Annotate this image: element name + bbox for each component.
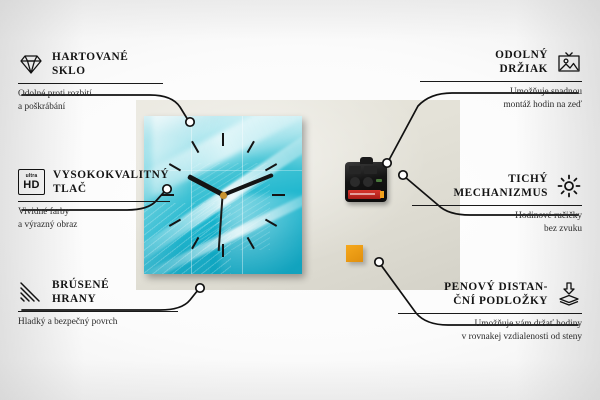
feature-title-line2: MECHANIZMUS xyxy=(453,186,548,200)
infographic-canvas: HARTOVANÉ SKLO Odolné proti rozbití a po… xyxy=(0,0,600,400)
connector-node xyxy=(375,258,383,266)
feature-title-line1: VYSOKOKVALITNÝ xyxy=(53,168,169,182)
foam-spacer-icon xyxy=(556,281,582,307)
feature-high-quality-print[interactable]: ultra HD VYSOKOKVALITNÝ TLAČ Vividné far… xyxy=(18,168,188,233)
feature-desc-line2: v rovnakej vzdialenosti od steny xyxy=(398,331,582,344)
divider xyxy=(420,81,582,82)
feature-durable-hanger[interactable]: ODOLNÝ DRŽIAK Umožňuje snadnou montáž ho… xyxy=(420,48,582,113)
feature-title-line1: ODOLNÝ xyxy=(495,48,548,62)
feature-silent-mechanism[interactable]: TICHÝ MECHANIZMUS Hodinové ručičky bez z… xyxy=(412,172,582,237)
ultra-hd-icon-main: HD xyxy=(23,180,40,191)
feature-title-line2: TLAČ xyxy=(53,182,169,196)
divider xyxy=(18,311,178,312)
feature-title-line2: DRŽIAK xyxy=(495,62,548,76)
picture-frame-hanger-icon xyxy=(556,49,582,75)
connector-node xyxy=(399,171,407,179)
feature-desc-line1: Odolné proti rozbití xyxy=(18,88,180,101)
divider xyxy=(18,83,163,84)
feature-desc-line1: Umožňuje vám držať hodiny xyxy=(398,318,582,331)
feature-desc-line1: Umožňuje snadnou xyxy=(420,86,582,99)
divider xyxy=(18,201,170,202)
feature-desc-line1: Hodinové ručičky xyxy=(412,210,582,223)
feature-polished-edges[interactable]: BRÚSENÉ HRANY Hladký a bezpečný povrch xyxy=(18,278,198,329)
feature-foam-spacers[interactable]: PENOVÝ DISTAN- ČNÍ PODLOŽKY Umožňuje vám… xyxy=(398,280,582,345)
feature-title-line1: HARTOVANÉ xyxy=(52,50,128,64)
feature-title-line1: PENOVÝ DISTAN- xyxy=(444,280,548,294)
feature-desc-line1: Vividné farby xyxy=(18,206,188,219)
connector-node xyxy=(186,118,194,126)
divider xyxy=(412,205,582,206)
feature-desc-line2: a poškrábání xyxy=(18,101,180,114)
connector-node xyxy=(383,159,391,167)
feature-title-line2: HRANY xyxy=(52,292,109,306)
feature-title-line2: ČNÍ PODLOŽKY xyxy=(444,294,548,308)
feature-title-line1: TICHÝ xyxy=(453,172,548,186)
diamond-icon xyxy=(18,51,44,77)
feature-desc-line2: montáž hodin na zeď xyxy=(420,99,582,112)
ultra-hd-icon: ultra HD xyxy=(18,169,45,195)
feature-title-line2: SKLO xyxy=(52,64,128,78)
feature-desc-line2: a výrazný obraz xyxy=(18,219,188,232)
divider xyxy=(398,313,582,314)
feature-desc-line2: bez zvuku xyxy=(412,223,582,236)
feature-desc-line1: Hladký a bezpečný povrch xyxy=(18,316,198,329)
feature-title-line1: BRÚSENÉ xyxy=(52,278,109,292)
feature-hardened-glass[interactable]: HARTOVANÉ SKLO Odolné proti rozbití a po… xyxy=(18,50,180,115)
polished-edge-icon xyxy=(18,279,44,305)
gear-icon xyxy=(556,173,582,199)
